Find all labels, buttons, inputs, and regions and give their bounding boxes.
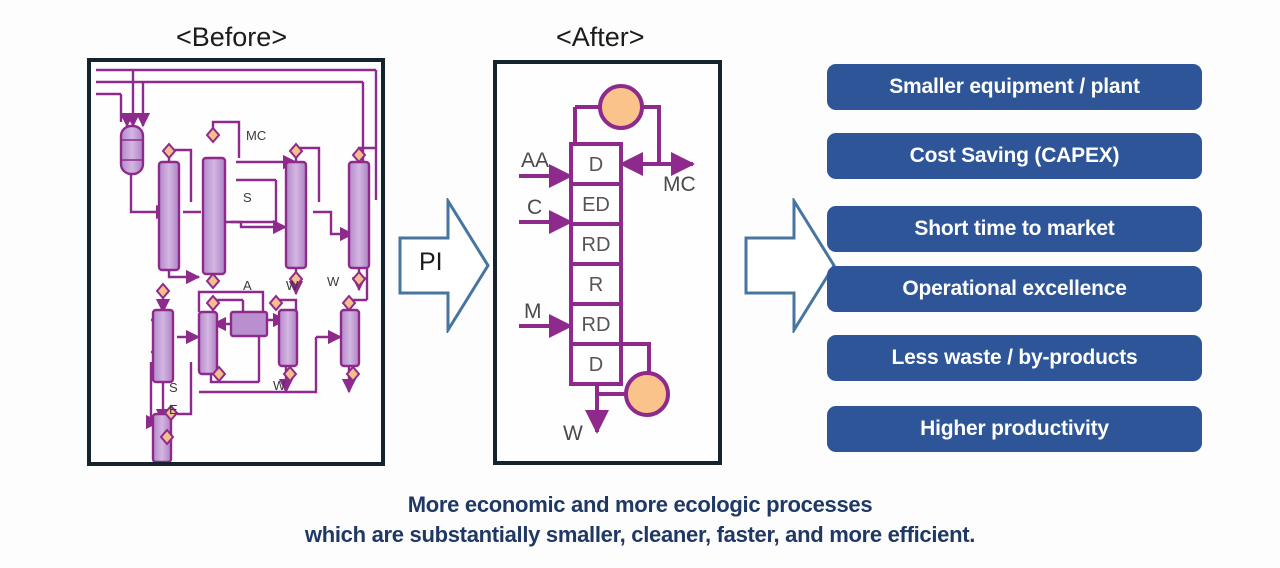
before-reactor-block (231, 312, 267, 336)
cell-label-1: ED (582, 194, 610, 216)
svg-text:W: W (273, 378, 286, 393)
benefit-label: Operational excellence (902, 277, 1126, 301)
after-column-stack (571, 144, 621, 384)
benefit-box-cost-saving[interactable]: Cost Saving (CAPEX) (827, 133, 1202, 179)
svg-text:S: S (243, 190, 252, 205)
after-condenser-circle (600, 86, 642, 128)
output-label-mc: MC (663, 173, 696, 196)
benefits-arrow-shape (744, 198, 836, 333)
cell-label-0: D (589, 154, 603, 176)
caption-line-1: More economic and more ecologic processe… (0, 490, 1280, 520)
benefits-arrow (744, 198, 836, 333)
before-stream-labels: MC S W A S E W W (169, 128, 340, 417)
feed-label-aa: AA (521, 149, 549, 172)
svg-text:S: S (169, 380, 178, 395)
svg-text:MC: MC (246, 128, 266, 143)
svg-text:A: A (243, 278, 252, 293)
before-pid-schematic: MC S W A S E W W (91, 62, 381, 462)
before-panel-title: <Before> (176, 22, 287, 53)
caption-line-2: which are substantially smaller, cleaner… (0, 520, 1280, 550)
after-intensified-column-schematic: D ED RD R RD D AA C M MC W (497, 64, 718, 461)
benefit-box-smaller-equipment[interactable]: Smaller equipment / plant (827, 64, 1202, 110)
slide-canvas: <Before> (0, 0, 1280, 568)
after-panel-title: <After> (556, 22, 645, 53)
after-process-diagram: D ED RD R RD D AA C M MC W (493, 60, 722, 465)
benefit-box-less-waste[interactable]: Less waste / by-products (827, 335, 1202, 381)
pi-arrow-shape (398, 198, 490, 333)
svg-text:W: W (286, 278, 299, 293)
svg-text:W: W (327, 274, 340, 289)
benefit-label: Short time to market (914, 217, 1114, 241)
svg-text:E: E (169, 402, 178, 417)
benefit-label: Cost Saving (CAPEX) (910, 144, 1120, 168)
before-process-diagram: MC S W A S E W W (87, 58, 385, 466)
cell-label-3: R (589, 274, 603, 296)
benefit-box-higher-productivity[interactable]: Higher productivity (827, 406, 1202, 452)
benefit-box-operational-excellence[interactable]: Operational excellence (827, 266, 1202, 312)
pi-transform-arrow (398, 198, 490, 333)
after-reboiler-circle (626, 373, 668, 415)
before-separator-vessel (121, 126, 143, 174)
cell-label-2: RD (582, 234, 611, 256)
summary-caption: More economic and more ecologic processe… (0, 490, 1280, 550)
cell-label-5: D (589, 354, 603, 376)
benefit-box-short-time-to-market[interactable]: Short time to market (827, 206, 1202, 252)
benefit-label: Smaller equipment / plant (889, 75, 1140, 99)
pi-arrow-label: PI (419, 248, 443, 277)
feed-label-m: M (524, 300, 542, 323)
cell-label-4: RD (582, 314, 611, 336)
feed-label-c: C (527, 196, 542, 219)
output-label-w: W (563, 422, 583, 445)
benefit-label: Less waste / by-products (891, 346, 1137, 370)
benefit-label: Higher productivity (920, 417, 1109, 441)
